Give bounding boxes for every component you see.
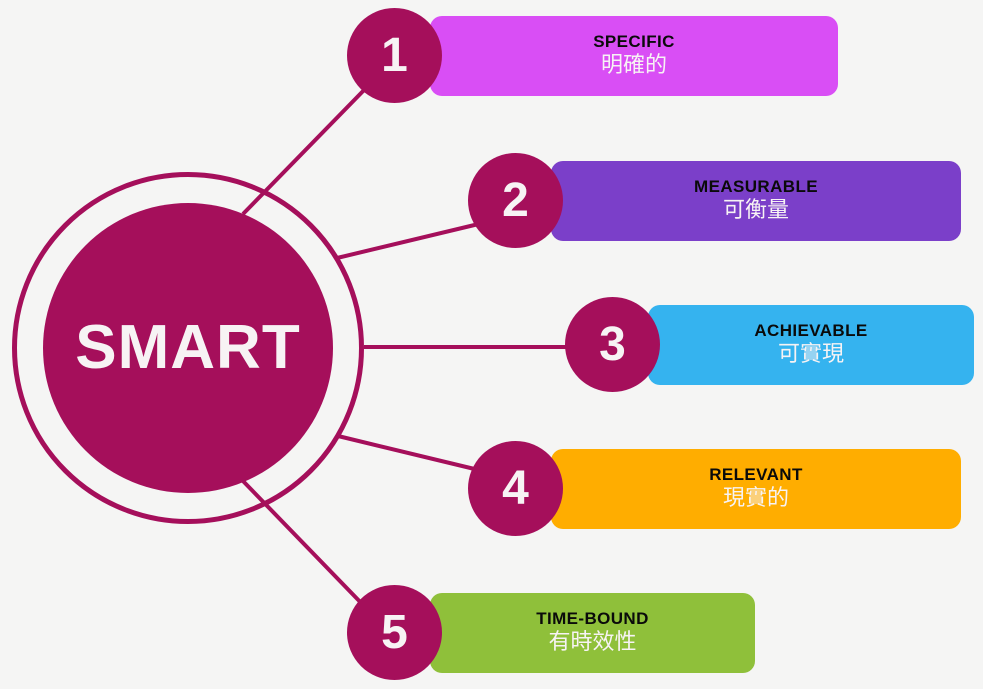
item-number-1: 1 [381,32,408,80]
item-title-4: RELEVANT [709,465,803,485]
item-number-3: 3 [599,321,626,369]
item-subtitle-1: 明確的 [601,51,667,80]
hub-label: SMART [75,317,300,379]
item-subtitle-4: 現實的 [723,484,789,513]
item-number-circle-5[interactable]: 5 [347,585,442,680]
item-number-circle-3[interactable]: 3 [565,297,660,392]
item-title-5: TIME-BOUND [536,609,649,629]
smart-item-measurable[interactable]: MEASURABLE 可衡量 2 [468,153,983,249]
item-number-circle-1[interactable]: 1 [347,8,442,103]
item-number-circle-2[interactable]: 2 [468,153,563,248]
item-number-5: 5 [381,609,408,657]
item-bar-3[interactable]: ACHIEVABLE 可實現 [648,305,974,385]
item-number-2: 2 [502,177,529,225]
item-bar-5[interactable]: TIME-BOUND 有時效性 [430,593,755,673]
item-bar-1[interactable]: SPECIFIC 明確的 [430,16,838,96]
item-subtitle-2: 可衡量 [723,196,789,225]
smart-item-time-bound[interactable]: TIME-BOUND 有時效性 5 [347,585,767,681]
item-subtitle-5: 有時效性 [548,628,636,657]
smart-goals-diagram: SMART SPECIFIC 明確的 1 MEASURABLE 可衡量 2 AC… [0,0,983,689]
smart-item-relevant[interactable]: RELEVANT 現實的 4 [468,441,888,537]
item-title-3: ACHIEVABLE [754,321,867,341]
item-title-2: MEASURABLE [694,177,818,197]
hub-core-circle: SMART [43,203,333,493]
smart-item-achievable[interactable]: ACHIEVABLE 可實現 3 [565,297,983,393]
item-number-circle-4[interactable]: 4 [468,441,563,536]
smart-hub: SMART [12,172,364,524]
item-bar-2[interactable]: MEASURABLE 可衡量 [551,161,961,241]
item-number-4: 4 [502,465,529,513]
smart-item-specific[interactable]: SPECIFIC 明確的 1 [347,8,983,104]
item-subtitle-3: 可實現 [778,340,844,369]
item-bar-4[interactable]: RELEVANT 現實的 [551,449,961,529]
item-title-1: SPECIFIC [593,32,675,52]
